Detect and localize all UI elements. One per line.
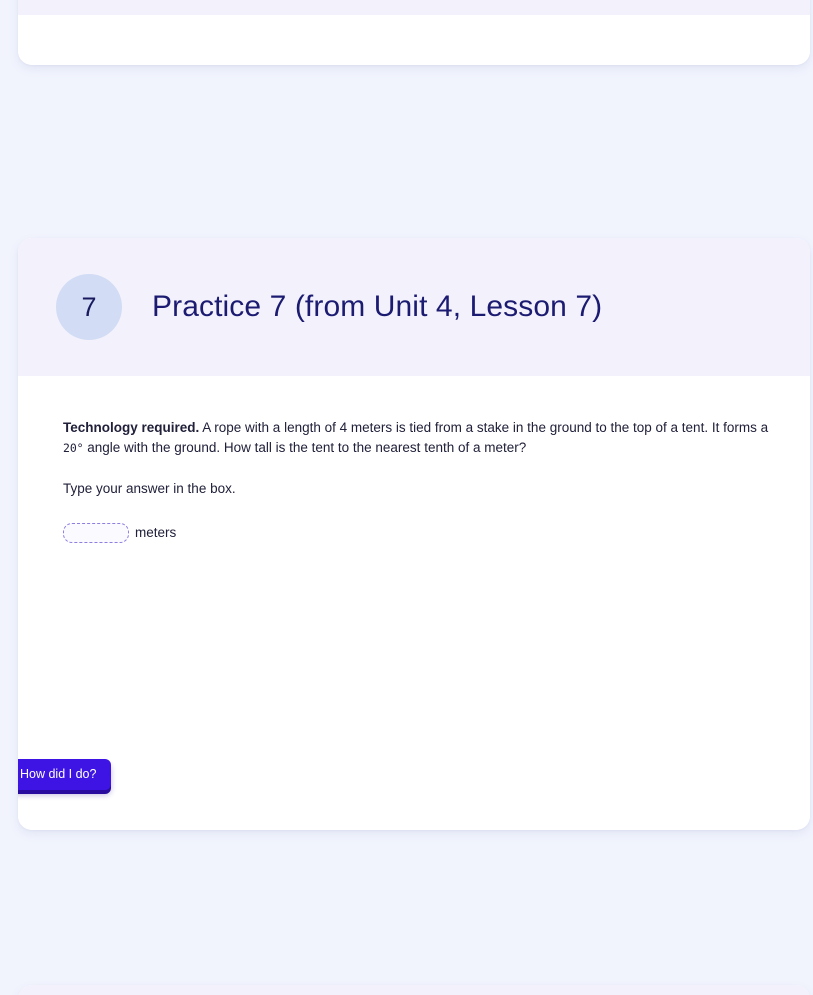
card-header-next [18, 985, 810, 995]
technology-required-label: Technology required. [63, 420, 199, 435]
card-header-previous: 6 Practice 6 (from Unit 3, Lesson 1) [18, 0, 810, 15]
card-body-previous [18, 15, 810, 65]
answer-input[interactable] [63, 523, 129, 543]
answer-instruction: Type your answer in the box. [63, 479, 770, 499]
angle-measure: 20° [63, 441, 83, 455]
practice-problem-page: 6 Practice 6 (from Unit 3, Lesson 1) 7 P… [0, 0, 813, 995]
problem-statement: Technology required. A rope with a lengt… [63, 418, 770, 457]
action-row: How did I do? [18, 759, 111, 791]
answer-unit-label: meters [135, 525, 176, 540]
problem-text-part-1: A rope with a length of 4 meters is tied… [199, 420, 768, 435]
card-header: 7 Practice 7 (from Unit 4, Lesson 7) [18, 238, 810, 376]
practice-card-7: 7 Practice 7 (from Unit 4, Lesson 7) Tec… [18, 238, 810, 830]
card-body: Technology required. A rope with a lengt… [18, 376, 810, 830]
problem-text-part-2: angle with the ground. How tall is the t… [83, 440, 526, 455]
answer-row: meters [63, 523, 770, 543]
problem-number-badge: 7 [56, 274, 122, 340]
how-did-i-do-button[interactable]: How did I do? [18, 759, 111, 791]
page-title: Practice 7 (from Unit 4, Lesson 7) [152, 290, 602, 324]
practice-card-next [18, 985, 810, 995]
practice-card-previous: 6 Practice 6 (from Unit 3, Lesson 1) [18, 0, 810, 65]
